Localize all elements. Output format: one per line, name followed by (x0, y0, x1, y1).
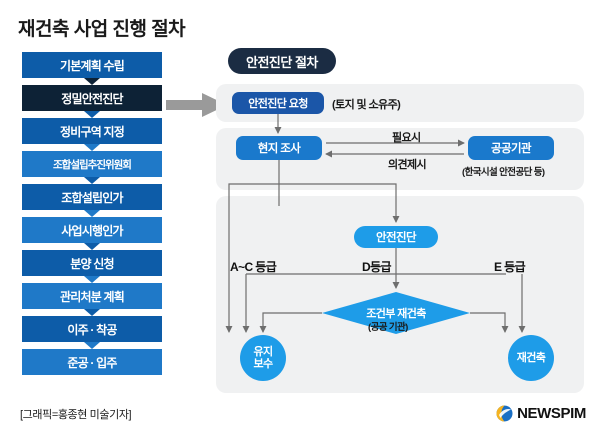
node-maintenance-repair: 유지 보수 (240, 335, 286, 381)
flow-step-label: 조합설립인가 (61, 189, 122, 206)
chevron-down-icon (84, 276, 100, 283)
flow-step-label: 준공 · 입주 (67, 354, 116, 371)
label-if-needed: 필요시 (392, 129, 421, 145)
page-title: 재건축 사업 진행 절차 (18, 14, 185, 41)
flow-step-2-highlighted: 정밀안전진단 (22, 85, 162, 111)
flow-step-4: 조합설립추진위원회 (22, 151, 162, 177)
flow-step-label: 이주 · 착공 (67, 321, 116, 338)
node-rebuild: 재건축 (508, 335, 554, 381)
left-process-flow: 기본계획 수립 정밀안전진단 정비구역 지정 조합설립추진위원회 조합설립인가 … (22, 52, 162, 375)
chevron-down-icon (84, 210, 100, 217)
note-land-owner: (토지 및 소유주) (332, 96, 400, 112)
note-public-agency-sub: (공공 기관) (368, 319, 408, 333)
flow-step-5: 조합설립인가 (22, 184, 162, 210)
flow-step-label: 조합설립추진위원회 (53, 157, 131, 172)
grade-label-d: D등급 (362, 258, 391, 275)
flow-step-7: 분양 신청 (22, 250, 162, 276)
infographic-root: 재건축 사업 진행 절차 기본계획 수립 정밀안전진단 정비구역 지정 조합설립… (0, 0, 600, 440)
newspim-logo: NEWSPIM (496, 405, 586, 422)
flow-step-9: 이주 · 착공 (22, 316, 162, 342)
newspim-wordmark: NEWSPIM (517, 405, 586, 422)
panel-title: 안전진단 절차 (228, 48, 336, 74)
grade-label-ac: A~C 등급 (230, 258, 276, 275)
chevron-down-icon (84, 78, 100, 85)
circle-line-2: 보수 (253, 358, 272, 370)
flow-step-10: 준공 · 입주 (22, 349, 162, 375)
chevron-down-icon (84, 111, 100, 118)
flow-step-label: 정비구역 지정 (60, 123, 124, 140)
flow-step-label: 정밀안전진단 (61, 90, 122, 107)
label-opinion: 의견제시 (388, 156, 426, 172)
node-safety-diagnosis: 안전진단 (354, 226, 438, 248)
chevron-down-icon (84, 342, 100, 349)
flow-step-label: 분양 신청 (70, 255, 114, 272)
flow-step-1: 기본계획 수립 (22, 52, 162, 78)
newspim-mark-icon (496, 405, 513, 422)
chevron-down-icon (84, 144, 100, 151)
chevron-down-icon (84, 177, 100, 184)
safety-diagnosis-panel: 안전진단 절차 안전진단 요청 (토지 및 소유주) 현지 조사 공공기관 필요… (216, 48, 584, 393)
flow-step-label: 기본계획 수립 (60, 57, 124, 74)
circle-label: 재건축 (517, 352, 546, 364)
node-safety-diagnosis-request: 안전진단 요청 (232, 92, 324, 114)
chevron-down-icon (84, 243, 100, 250)
node-public-agency: 공공기관 (468, 136, 554, 160)
flow-step-6: 사업시행인가 (22, 217, 162, 243)
graphic-credit: [그래픽=홍종현 미술기자] (20, 406, 131, 422)
node-field-survey: 현지 조사 (236, 136, 322, 160)
note-agency-detail: (한국시설 안전공단 등) (462, 164, 544, 178)
flow-step-8: 관리처분 계획 (22, 283, 162, 309)
circle-line-1: 유지 (253, 346, 272, 358)
grade-label-e: E 등급 (494, 258, 525, 275)
flow-step-3: 정비구역 지정 (22, 118, 162, 144)
flow-step-label: 관리처분 계획 (60, 288, 124, 305)
flow-step-label: 사업시행인가 (61, 222, 122, 239)
chevron-down-icon (84, 309, 100, 316)
